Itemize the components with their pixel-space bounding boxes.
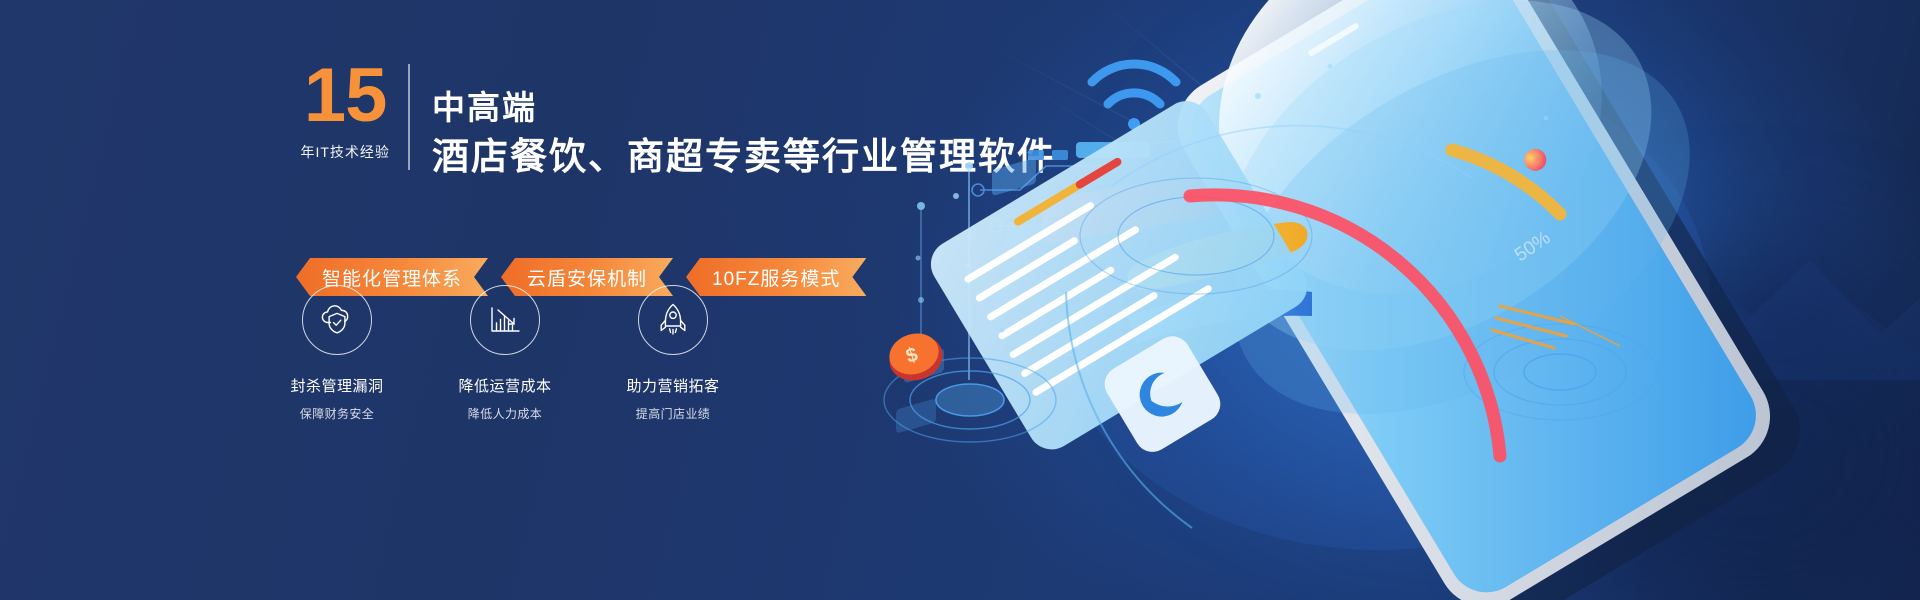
feature-subtitle: 降低人力成本 [455,405,555,422]
feature-title: 降低运营成本 [455,375,555,396]
rocket-icon [656,301,690,339]
feature-title: 封杀管理漏洞 [287,375,387,396]
feature-item-cost[interactable]: 降低运营成本 降低人力成本 [455,285,555,422]
feature-list: 封杀管理漏洞 保障财务安全 降低运营成本 降低人力成本 [287,285,723,422]
promo-banner: 15 年IT技术经验 中高端 酒店餐饮、商超专卖等行业管理软件 智能化管理体系 … [0,0,1920,600]
feature-title: 助力营销拓客 [623,375,723,396]
experience-badge: 15 年IT技术经验 [296,58,394,162]
experience-number: 15 [296,60,394,132]
feature-icon-ring [638,285,708,355]
cloud-shield-check-icon [318,302,356,338]
feature-item-marketing[interactable]: 助力营销拓客 提高门店业绩 [623,285,723,422]
feature-item-security[interactable]: 封杀管理漏洞 保障财务安全 [287,285,387,422]
pill-label: 10FZ服务模式 [712,264,840,291]
feature-subtitle: 保障财务安全 [287,405,387,422]
coin-icon: $ [884,327,949,387]
declining-bar-chart-icon [486,303,524,337]
vertical-divider [408,64,410,170]
feature-subtitle: 提高门店业绩 [623,405,723,422]
hero-illustration: 50% $ [860,0,1920,600]
experience-caption: 年IT技术经验 [296,142,394,162]
feature-icon-ring [302,285,372,355]
feature-icon-ring [470,285,540,355]
